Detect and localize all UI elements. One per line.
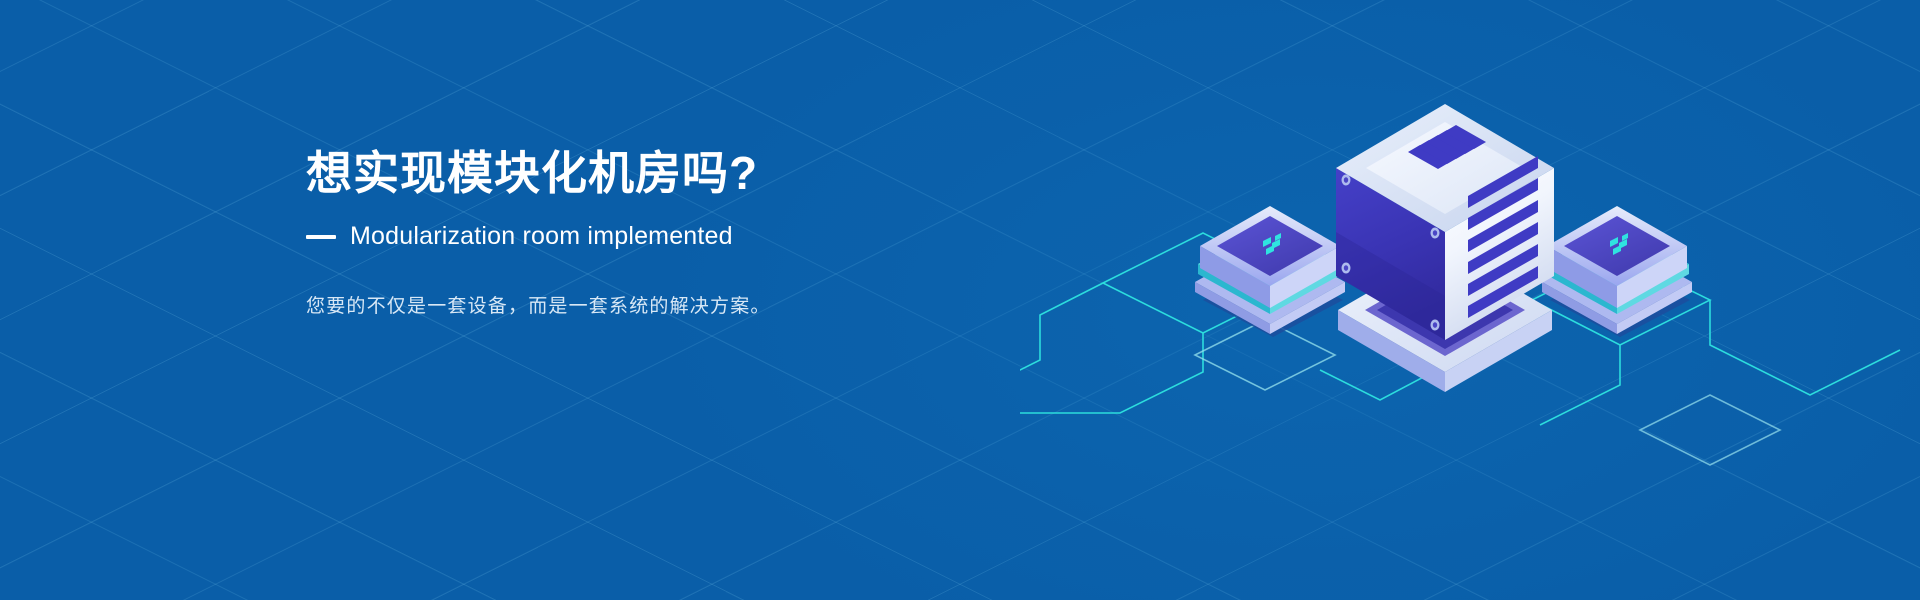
hero-banner: 想实现模块化机房吗? Modularization room implement… [0, 0, 1920, 600]
hero-text-block: 想实现模块化机房吗? Modularization room implement… [306, 146, 946, 337]
server-rack-tower [1336, 104, 1554, 392]
page-title: 想实现模块化机房吗? [306, 146, 946, 200]
subtitle-english: Modularization room implemented [350, 222, 733, 251]
subtitle-row: Modularization room implemented [306, 222, 946, 251]
chip-module-left [1195, 206, 1345, 337]
accent-dash [306, 235, 336, 239]
description-text: 您要的不仅是一套设备，而是一套系统的解决方案。 [306, 291, 946, 318]
isometric-server-illustration [1020, 0, 1920, 600]
